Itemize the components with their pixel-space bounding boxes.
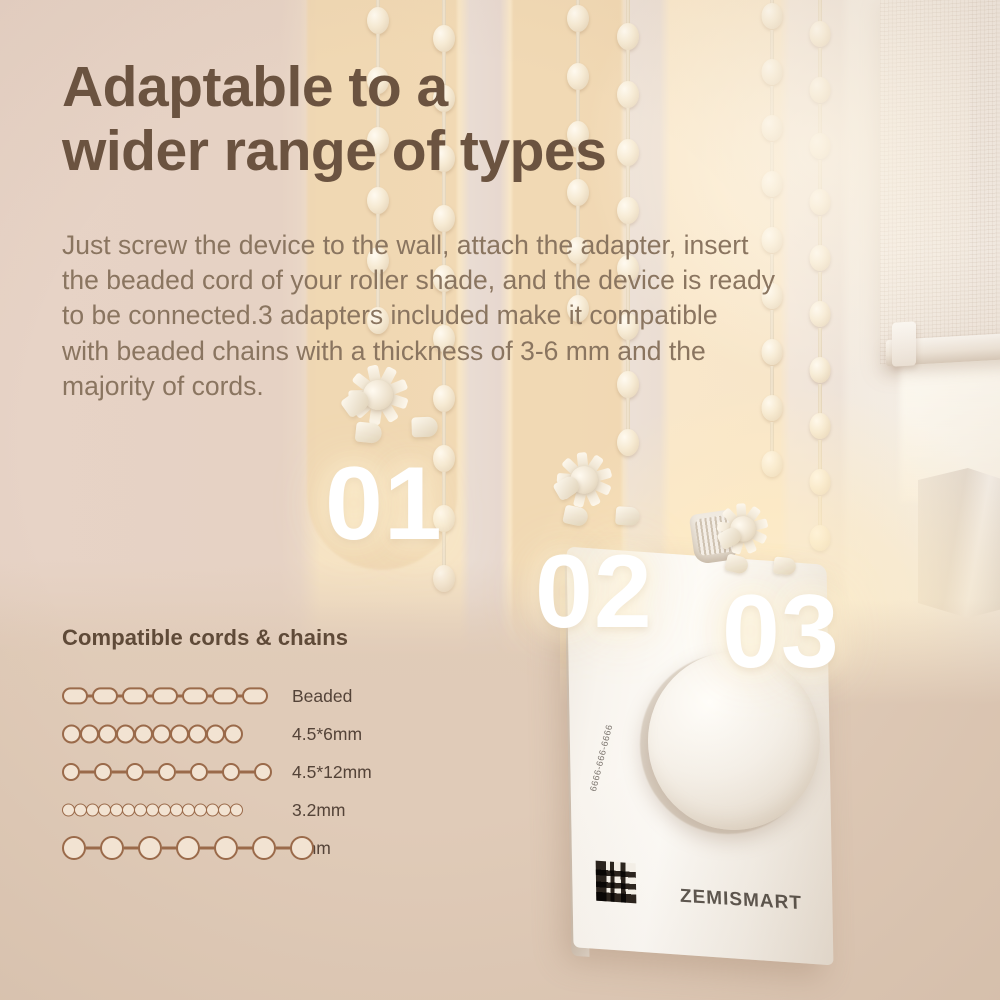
compatible-cords-section: Compatible cords & chains Beaded4.5*6mm4… bbox=[62, 625, 462, 867]
cord-bead bbox=[212, 687, 238, 704]
cord-bead bbox=[94, 763, 112, 781]
cord-bead bbox=[80, 725, 99, 744]
step-number-02: 02 bbox=[535, 540, 653, 644]
compatible-cords-list: Beaded4.5*6mm4.5*12mm3.2mm6mm bbox=[62, 677, 462, 867]
cord-diagram-round-bar bbox=[62, 833, 280, 863]
cord-bead bbox=[158, 763, 176, 781]
cord-row: Beaded bbox=[62, 677, 462, 715]
cord-bead bbox=[122, 687, 148, 704]
cord-row: 4.5*12mm bbox=[62, 753, 462, 791]
cord-bead bbox=[230, 804, 243, 817]
page-title: Adaptable to a wider range of types bbox=[62, 55, 762, 184]
cord-row: 4.5*6mm bbox=[62, 715, 462, 753]
headline-line-1: Adaptable to a bbox=[62, 55, 762, 119]
cord-bead bbox=[116, 725, 135, 744]
body-line-3: to be connected.3 adapters included make… bbox=[62, 298, 932, 333]
cord-label: Beaded bbox=[292, 686, 352, 707]
cord-bead bbox=[224, 725, 243, 744]
cord-label: 4.5*12mm bbox=[292, 762, 372, 783]
cord-row: 3.2mm bbox=[62, 791, 462, 829]
cord-bead bbox=[62, 763, 80, 781]
headline-line-2: wider range of types bbox=[62, 119, 762, 183]
cord-bead bbox=[222, 763, 240, 781]
cord-bead bbox=[98, 725, 117, 744]
cord-bead bbox=[176, 836, 200, 860]
cord-diagram-round-tight bbox=[62, 719, 280, 749]
cord-bead bbox=[126, 763, 144, 781]
cord-bead bbox=[152, 687, 178, 704]
body-line-2: the beaded cord of your roller shade, an… bbox=[62, 263, 932, 298]
cord-row: 6mm bbox=[62, 829, 462, 867]
step-number-01: 01 bbox=[325, 452, 443, 556]
cord-bead bbox=[188, 725, 207, 744]
cord-bead bbox=[190, 763, 208, 781]
body-line-5: majority of cords. bbox=[62, 369, 932, 404]
cord-bead bbox=[134, 725, 153, 744]
cord-bead bbox=[62, 687, 88, 704]
cord-bead bbox=[214, 836, 238, 860]
cord-bead bbox=[252, 836, 276, 860]
cord-label: 4.5*6mm bbox=[292, 724, 362, 745]
cord-bead bbox=[254, 763, 272, 781]
body-line-4: with beaded chains with a thickness of 3… bbox=[62, 334, 932, 369]
cord-bead bbox=[62, 725, 81, 744]
cord-bead bbox=[182, 687, 208, 704]
cord-diagram-oval-link bbox=[62, 681, 280, 711]
product-feature-image: 6666-666-6666 ZEMISMART 01 02 03 Adaptab… bbox=[0, 0, 1000, 1000]
cord-bead bbox=[242, 687, 268, 704]
body-line-1: Just screw the device to the wall, attac… bbox=[62, 228, 932, 263]
cord-label: 3.2mm bbox=[292, 800, 345, 821]
cord-bead bbox=[206, 725, 225, 744]
compatible-cords-title: Compatible cords & chains bbox=[62, 625, 462, 651]
step-number-03: 03 bbox=[722, 580, 840, 684]
cord-bead bbox=[152, 725, 171, 744]
cord-bead bbox=[170, 725, 189, 744]
cord-bead bbox=[138, 836, 162, 860]
cord-diagram-round-tight bbox=[62, 795, 280, 825]
cord-bead bbox=[62, 836, 86, 860]
cord-bead bbox=[100, 836, 124, 860]
cord-bead bbox=[92, 687, 118, 704]
cord-bead bbox=[290, 836, 314, 860]
description-paragraph: Just screw the device to the wall, attac… bbox=[62, 228, 932, 404]
cord-diagram-round-bar bbox=[62, 757, 280, 787]
